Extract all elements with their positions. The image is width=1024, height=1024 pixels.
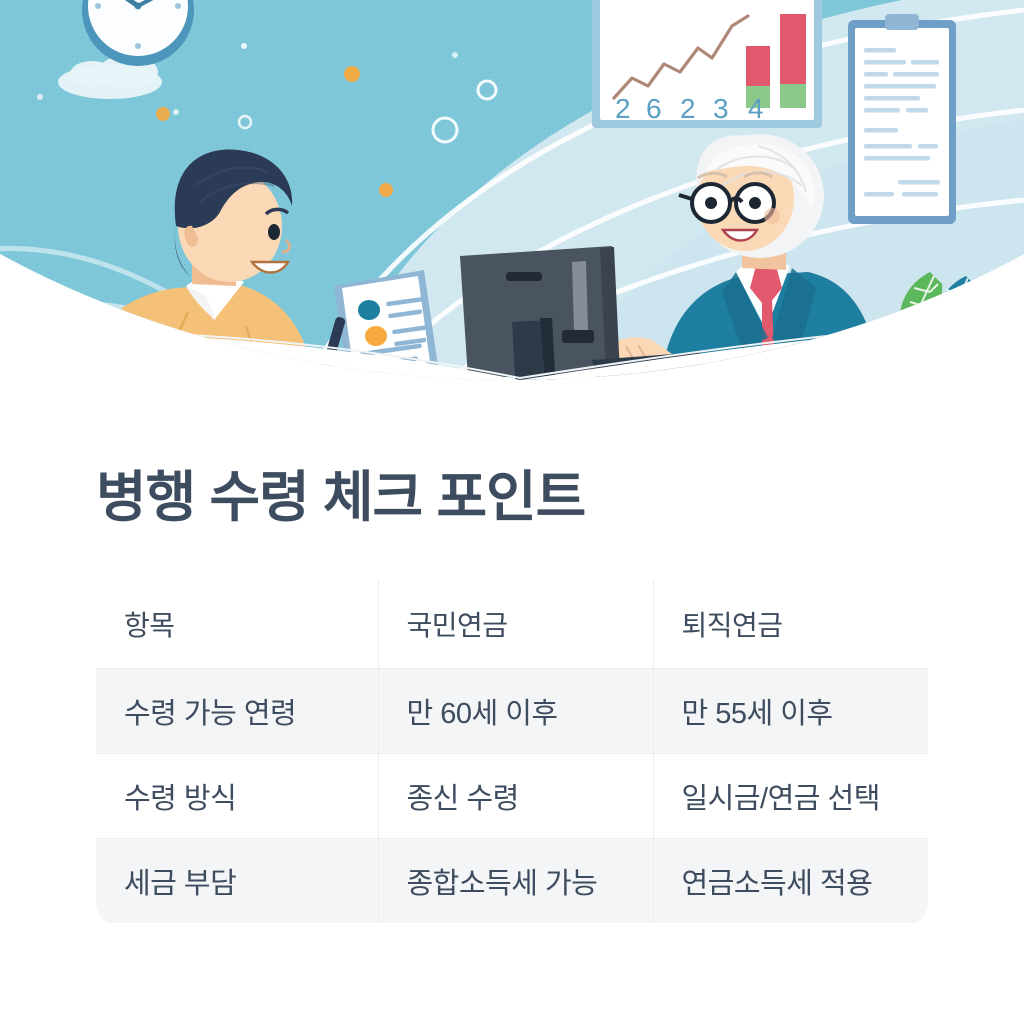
- cell-label: 수령 방식: [96, 753, 378, 838]
- svg-text:4: 4: [748, 93, 764, 124]
- page-root: 2 6 2 3 4: [0, 0, 1024, 1024]
- cell-retirement: 만 55세 이후: [653, 668, 928, 753]
- cell-label: 세금 부담: [96, 838, 378, 923]
- pension-comparison-table: 항목 국민연금 퇴직연금 수령 가능 연령 만 60세 이후 만 55세 이후 …: [96, 580, 928, 925]
- svg-text:3: 3: [713, 93, 729, 124]
- monitor-vent: [506, 272, 542, 281]
- page-title: 병행 수령 체크 포인트: [96, 466, 585, 529]
- cell-national: 종합소득세 가능: [378, 838, 653, 923]
- hero-illustration: 2 6 2 3 4: [0, 0, 1024, 392]
- doc-bullet-orange: [365, 326, 387, 346]
- cell-national: 만 60세 이후: [378, 668, 653, 753]
- column-header-item: 항목: [96, 580, 378, 668]
- table-row: 수령 방식 종신 수령 일시금/연금 선택: [96, 753, 928, 838]
- orange-dot-1: [344, 66, 360, 82]
- orange-dot-3: [156, 107, 170, 121]
- doc-bullet-teal: [358, 300, 380, 320]
- table-row: 수령 가능 연령 만 60세 이후 만 55세 이후: [96, 668, 928, 753]
- table-header-row: 항목 국민연금 퇴직연금: [96, 580, 928, 668]
- hero-illustration-canvas: 2 6 2 3 4: [0, 0, 1024, 392]
- client-eye: [268, 224, 280, 240]
- svg-text:6: 6: [646, 93, 662, 124]
- cell-national: 종신 수령: [378, 753, 653, 838]
- column-header-retirement-pension: 퇴직연금: [653, 580, 928, 668]
- comparison-table: 항목 국민연금 퇴직연금 수령 가능 연령 만 60세 이후 만 55세 이후 …: [96, 580, 928, 923]
- cell-retirement: 일시금/연금 선택: [653, 753, 928, 838]
- svg-text:2: 2: [615, 93, 631, 124]
- whiteboard-chart: 2 6 2 3 4: [592, 0, 822, 128]
- wall-clipboard-poster: [848, 14, 956, 224]
- table-head: 항목 국민연금 퇴직연금: [96, 580, 928, 668]
- table-body: 수령 가능 연령 만 60세 이후 만 55세 이후 수령 방식 종신 수령 일…: [96, 668, 928, 923]
- orange-dot-2: [379, 183, 393, 197]
- table-row: 세금 부담 종합소득세 가능 연금소득세 적용: [96, 838, 928, 923]
- column-header-national-pension: 국민연금: [378, 580, 653, 668]
- svg-text:2: 2: [680, 93, 696, 124]
- cell-label: 수령 가능 연령: [96, 668, 378, 753]
- office-scene-svg: 2 6 2 3 4: [0, 0, 1024, 392]
- cell-retirement: 연금소득세 적용: [653, 838, 928, 923]
